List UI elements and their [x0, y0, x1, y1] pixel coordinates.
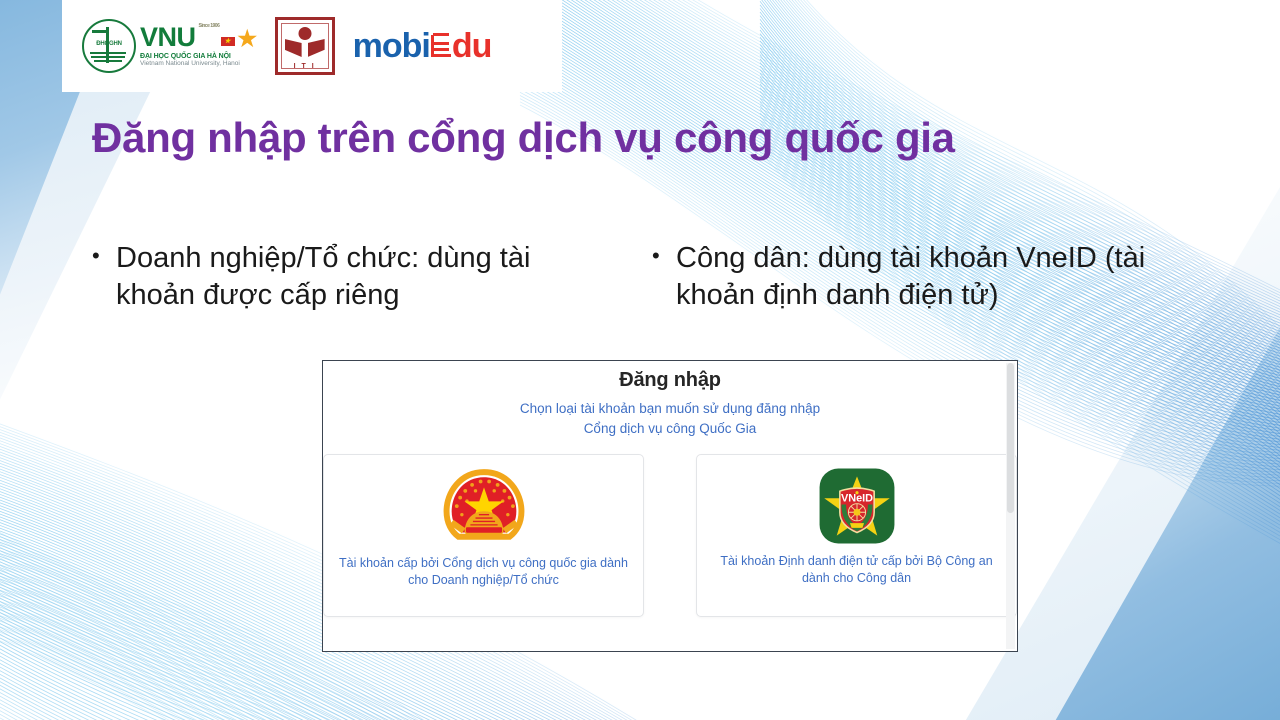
login-panel-header: Đăng nhập Chọn loại tài khoản bạn muốn s… [323, 361, 1017, 438]
account-type-cards: Tài khoản cấp bởi Cổng dịch vụ công quốc… [323, 454, 1017, 617]
mobiedu-du-text: du [452, 27, 492, 66]
vnu-seal-abbr: ĐHQGHN [84, 41, 134, 47]
vneid-app-icon: VNeID [818, 467, 896, 545]
login-panel-screenshot: Đăng nhập Chọn loại tài khoản bạn muốn s… [322, 360, 1018, 652]
presentation-slide: ĐHQGHN VNU Since 1906 ★ ★ ĐẠI HỌC QUỐC G… [0, 0, 1280, 720]
vnu-name-vi: ĐẠI HỌC QUỐC GIA HÀ NỘI [140, 53, 257, 60]
login-panel-title: Đăng nhập [323, 369, 1017, 392]
vietnam-national-emblem-icon [441, 467, 527, 547]
account-card-business[interactable]: Tài khoản cấp bởi Cổng dịch vụ công quốc… [323, 454, 644, 617]
login-panel-subtitle: Chọn loại tài khoản bạn muốn sử dụng đăn… [323, 399, 1017, 438]
vnu-seal-icon: ĐHQGHN [82, 19, 136, 73]
account-card-citizen-caption: Tài khoản Định danh điện tử cấp bởi Bộ C… [697, 553, 1016, 588]
bullet-list: • Doanh nghiệp/Tổ chức: dùng tài khoản đ… [92, 240, 1212, 314]
vietnam-flag-icon: ★ [221, 37, 235, 46]
logo-bar: ĐHQGHN VNU Since 1906 ★ ★ ĐẠI HỌC QUỐC G… [62, 0, 562, 92]
corner-gradient-bottom-right [1050, 310, 1280, 720]
bullet-column-left: • Doanh nghiệp/Tổ chức: dùng tài khoản đ… [92, 240, 652, 314]
login-panel-subtitle-line1: Chọn loại tài khoản bạn muốn sử dụng đăn… [323, 399, 1017, 419]
bullet-column-right: • Công dân: dùng tài khoản VneID (tài kh… [652, 240, 1212, 314]
mobiedu-logo: mobi du [353, 27, 492, 66]
iti-logo: I T I [275, 17, 335, 75]
vnu-wordmark-block: VNU Since 1906 ★ ★ ĐẠI HỌC QUỐC GIA HÀ N… [140, 24, 257, 68]
account-card-citizen[interactable]: VNeID Tài khoản Định danh điện tử cấp bở… [696, 454, 1017, 617]
bullet-text: Công dân: dùng tài khoản VneID (tài khoả… [676, 240, 1176, 314]
vnu-wordmark-text: VNU [140, 24, 196, 51]
list-item: • Công dân: dùng tài khoản VneID (tài kh… [652, 240, 1212, 314]
iti-head-icon [298, 27, 311, 40]
list-item: • Doanh nghiệp/Tổ chức: dùng tài khoản đ… [92, 240, 652, 314]
panel-scrollbar[interactable] [1006, 363, 1015, 649]
mobiedu-mobi-text: mobi [353, 27, 430, 66]
panel-scrollbar-thumb[interactable] [1007, 363, 1014, 513]
vnu-name-en: Vietnam National University, Hanoi [140, 61, 257, 68]
iti-label: I T I [278, 63, 332, 70]
login-panel-subtitle-line2: Cổng dịch vụ công Quốc Gia [323, 419, 1017, 439]
bullet-marker-icon: • [92, 240, 116, 314]
vnu-logo: ĐHQGHN VNU Since 1906 ★ ★ ĐẠI HỌC QUỐC G… [82, 19, 257, 73]
vnu-wordmark: VNU Since 1906 ★ ★ [140, 24, 257, 51]
vnu-since-text: Since 1906 [199, 24, 220, 29]
star-icon: ★ [237, 28, 256, 50]
page-title: Đăng nhập trên cổng dịch vụ công quốc gi… [92, 114, 1092, 162]
bullet-marker-icon: • [652, 240, 676, 314]
bullet-text: Doanh nghiệp/Tổ chức: dùng tài khoản đượ… [116, 240, 616, 314]
mobiedu-e-glyph-icon [431, 33, 451, 59]
account-card-business-caption: Tài khoản cấp bởi Cổng dịch vụ công quốc… [324, 555, 643, 590]
